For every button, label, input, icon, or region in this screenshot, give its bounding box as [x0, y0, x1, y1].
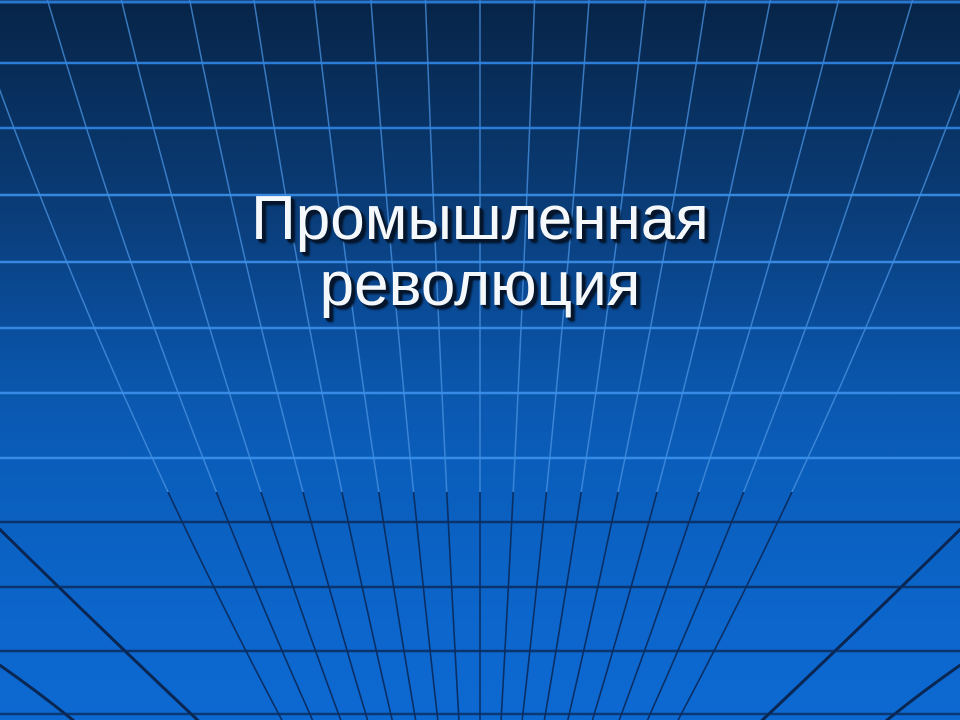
slide-title-line-2: революция [0, 252, 960, 318]
slide-title: Промышленная революция [0, 186, 960, 317]
slide-title-line-1: Промышленная [0, 186, 960, 252]
globe-grid-background [0, 0, 960, 720]
presentation-slide: Промышленная революция [0, 0, 960, 720]
